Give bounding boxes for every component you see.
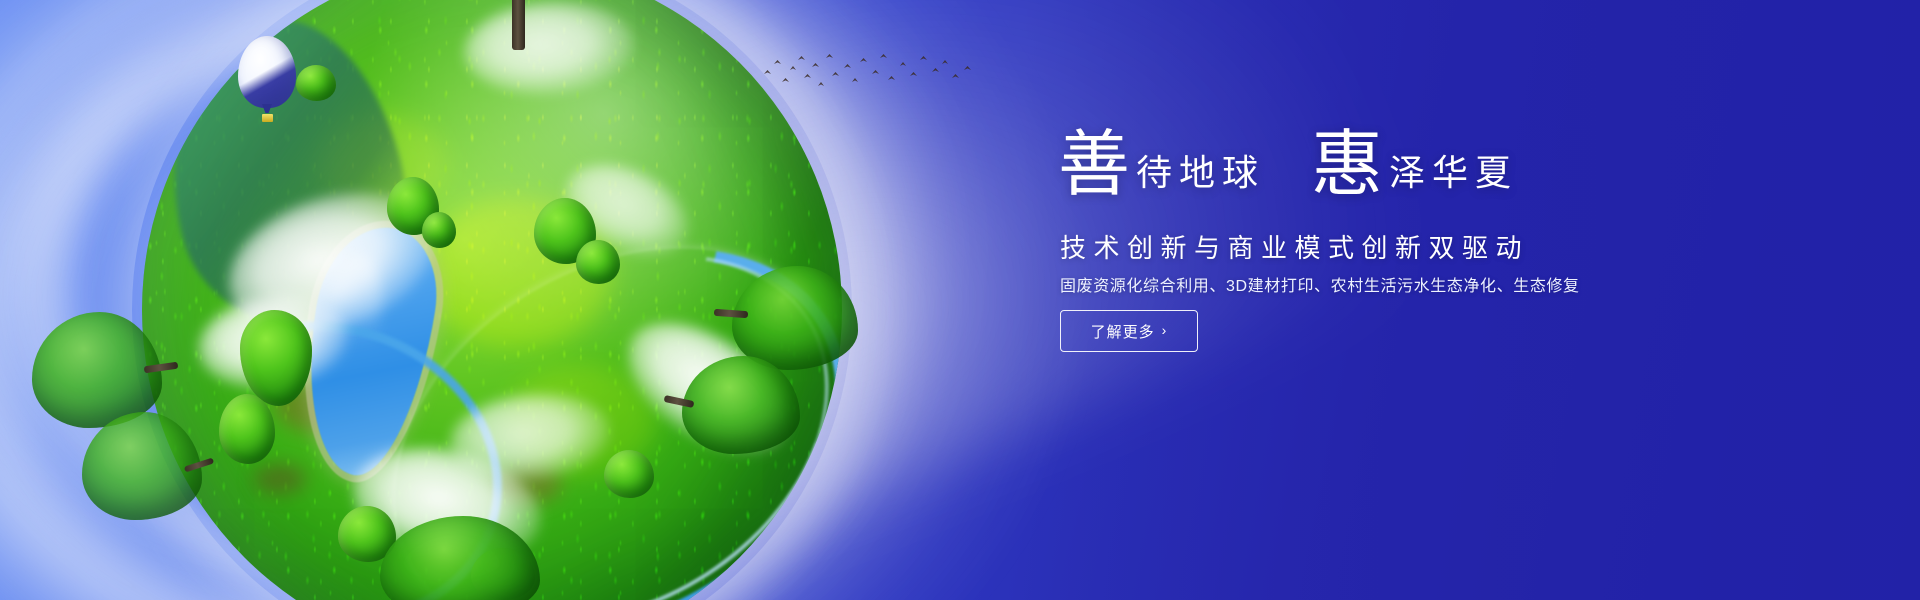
- bird-icon: [798, 56, 805, 60]
- bird-icon: [812, 63, 819, 67]
- bird-icon: [774, 60, 781, 64]
- hero-banner: 善待地球惠泽华夏 技术创新与商业模式创新双驱动 固废资源化综合利用、3D建材打印…: [0, 0, 1920, 600]
- bird-icon: [804, 74, 811, 78]
- learn-more-button[interactable]: 了解更多 ›: [1060, 310, 1198, 352]
- subheadline: 技术创新与商业模式创新双驱动: [1060, 228, 1529, 265]
- bird-icon: [872, 70, 879, 74]
- banner-content: 善待地球惠泽华夏 技术创新与商业模式创新双驱动 固废资源化综合利用、3D建材打印…: [1058, 0, 1838, 600]
- bird-icon: [900, 62, 906, 66]
- bird-icon: [826, 54, 833, 58]
- headline-phrase1-big: 善: [1058, 128, 1130, 200]
- bird-icon: [964, 66, 971, 70]
- headline-phrase1-small: 待地球: [1136, 156, 1265, 192]
- learn-more-label: 了解更多: [1091, 321, 1155, 342]
- bird-icon: [860, 58, 867, 62]
- hot-air-balloon: [238, 36, 302, 128]
- bird-icon: [852, 78, 858, 82]
- balloon-basket: [262, 114, 273, 122]
- bird-icon: [910, 72, 917, 76]
- bird-icon: [844, 64, 851, 68]
- headline-phrase2-small: 泽华夏: [1389, 156, 1518, 192]
- headline-phrase2-big: 惠: [1311, 128, 1383, 200]
- bird-icon: [790, 66, 796, 70]
- description-text: 固废资源化综合利用、3D建材打印、农村生活污水生态净化、生态修复: [1060, 272, 1580, 296]
- headline: 善待地球惠泽华夏: [1058, 128, 1838, 200]
- bird-icon: [942, 60, 948, 64]
- bird-icon: [782, 78, 789, 82]
- bird-icon: [888, 76, 895, 80]
- bird-icon: [920, 56, 927, 60]
- balloon-neck: [262, 104, 272, 113]
- bird-icon: [880, 54, 887, 58]
- bird-flock: [760, 48, 980, 104]
- bird-icon: [818, 82, 824, 86]
- balloon-ribs: [238, 36, 296, 108]
- chevron-right-icon: ›: [1162, 323, 1168, 337]
- bird-icon: [764, 70, 771, 74]
- bird-icon: [932, 68, 939, 72]
- bird-icon: [832, 72, 839, 76]
- bird-icon: [952, 74, 959, 78]
